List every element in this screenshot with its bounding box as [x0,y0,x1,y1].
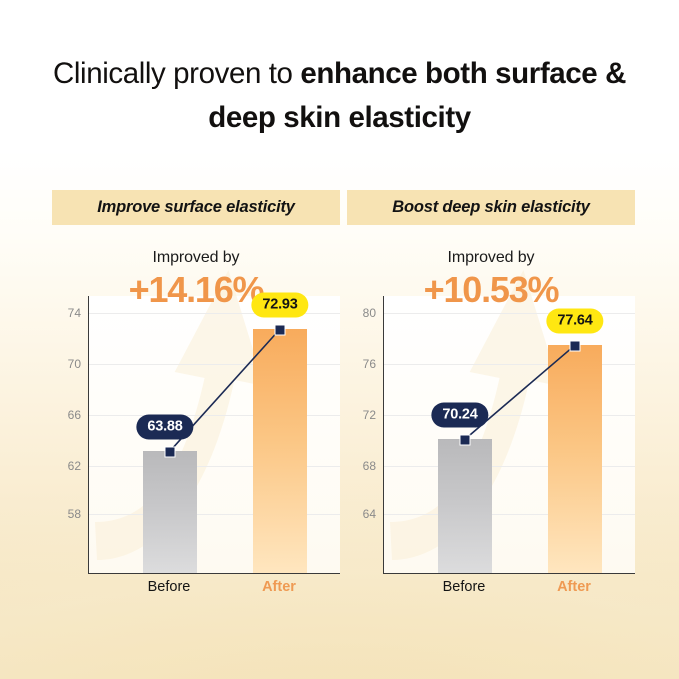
improvement-label: Improved by [52,248,340,268]
panel-title-label: Improve surface elasticity [97,198,294,217]
trend-connector-line [89,296,340,573]
data-point-marker-after[interactable] [570,341,581,352]
y-axis-tick: 68 [363,459,376,473]
y-axis-tick: 62 [68,459,81,473]
panel-title-label: Boost deep skin elasticity [392,198,589,217]
data-point-marker-after[interactable] [275,325,286,336]
value-pill-after: 77.64 [546,309,603,334]
value-pill-before: 70.24 [431,403,488,428]
chart-surface-elasticity: 74 70 66 62 58 63.88 72.93 Before After [52,296,340,601]
x-axis-label-after: After [557,579,591,595]
data-point-marker-before[interactable] [460,435,471,446]
x-axis-labels: Before After [383,577,635,601]
x-axis-label-after: After [262,579,296,595]
y-axis-tick: 66 [68,408,81,422]
improvement-value: +10.53% [347,270,635,310]
panel-deep-skin-elasticity: Boost deep skin elasticity Improved by +… [347,190,635,640]
x-axis-label-before: Before [148,579,191,595]
data-point-marker-before[interactable] [165,447,176,458]
y-axis-tick: 72 [363,408,376,422]
value-pill-before: 63.88 [136,415,193,440]
x-axis-label-before: Before [443,579,486,595]
improvement-label: Improved by [347,248,635,268]
x-axis-labels: Before After [88,577,340,601]
panel-surface-elasticity: Improve surface elasticity Improved by +… [52,190,340,640]
headline-light-text: Clinically proven to [53,57,300,90]
infographic-canvas: Clinically proven to enhance both surfac… [0,0,679,679]
y-axis-tick: 76 [363,357,376,371]
value-pill-after: 72.93 [251,293,308,318]
panel-title-band: Boost deep skin elasticity [347,190,635,225]
plot-area: 80 76 72 68 64 70.24 77.64 [383,296,635,574]
chart-deep-skin-elasticity: 80 76 72 68 64 70.24 77.64 Before After [347,296,635,601]
y-axis-tick: 70 [68,357,81,371]
page-headline: Clinically proven to enhance both surfac… [0,52,679,140]
y-axis-tick: 58 [68,507,81,521]
trend-connector-line [384,296,635,573]
y-axis-tick: 64 [363,507,376,521]
panel-title-band: Improve surface elasticity [52,190,340,225]
plot-area: 74 70 66 62 58 63.88 72.93 [88,296,340,574]
improvement-callout: Improved by +10.53% [347,248,635,310]
